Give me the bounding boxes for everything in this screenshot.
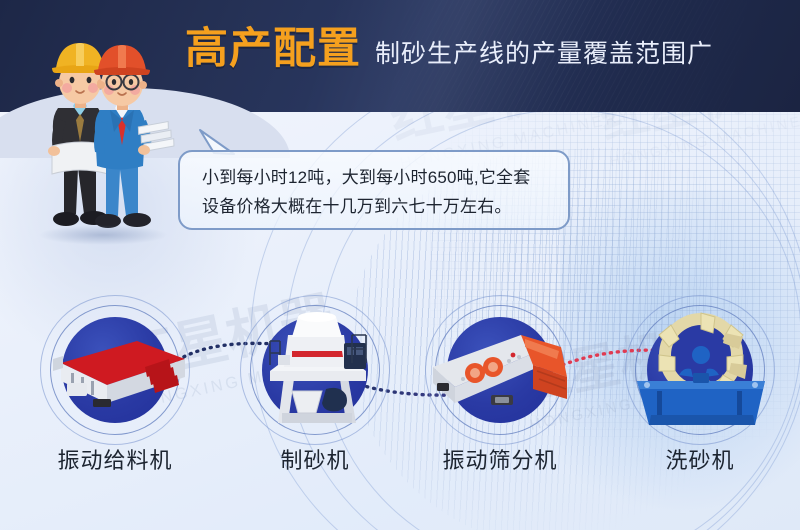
node-label-sand-making-machine: 制砂机 (240, 443, 390, 475)
sand-washing-machine-icon (627, 303, 775, 433)
right-worker-figure (94, 45, 176, 228)
page-title: 高产配置 (185, 28, 361, 71)
vibrating-screen-icon (425, 321, 580, 421)
vibrating-feeder-icon (45, 323, 190, 418)
flow-node-vibrating-screen[interactable]: 振动筛分机 (425, 295, 575, 445)
flow-node-sand-washing-machine[interactable]: 洗砂机 (625, 295, 775, 445)
speech-bubble-line-1: 小到每小时12吨，大到每小时650吨,它全套 (202, 163, 558, 192)
flow-node-vibrating-feeder[interactable]: 振动给料机 (40, 295, 190, 445)
flow-node-sand-making-machine[interactable]: 制砂机 (240, 295, 390, 445)
figure-shadow (38, 225, 168, 245)
two-engineers-icon (18, 18, 188, 248)
engineers-illustration (18, 18, 188, 248)
sand-making-machine-icon (248, 305, 384, 435)
promo-banner: 红星机器 HONGXING MACHINERY 红星机器 HONGXING MA… (0, 0, 800, 530)
node-label-vibrating-feeder: 振动给料机 (40, 443, 190, 475)
page-subtitle: 制砂生产线的产量覆盖范围广 (375, 42, 713, 67)
speech-bubble: 小到每小时12吨，大到每小时650吨,它全套 设备价格大概在十几万到六七十万左右… (178, 150, 570, 230)
speech-bubble-line-2: 设备价格大概在十几万到六七十万左右。 (202, 192, 558, 221)
speech-bubble-text: 小到每小时12吨，大到每小时650吨,它全套 设备价格大概在十几万到六七十万左右… (202, 163, 558, 221)
node-label-sand-washing-machine: 洗砂机 (625, 443, 775, 475)
node-label-vibrating-screen: 振动筛分机 (425, 443, 575, 475)
